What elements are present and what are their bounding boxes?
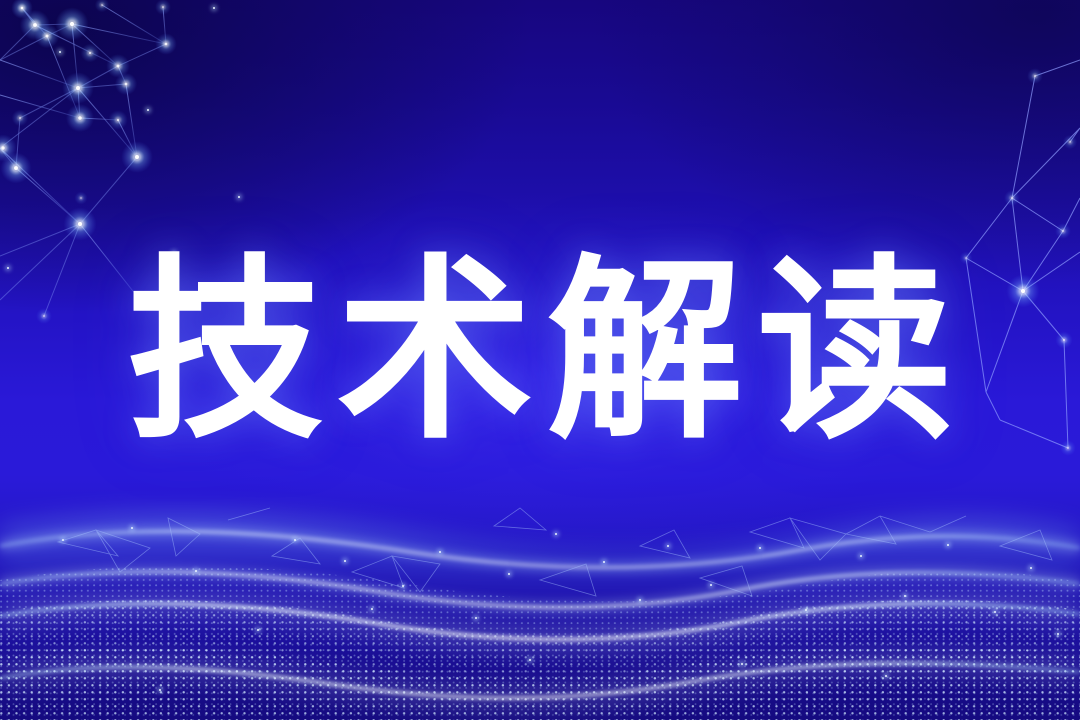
banner-title: 技术解读 — [113, 254, 967, 450]
title-container: 技术解读 — [0, 242, 1080, 462]
tech-banner: 技术解读 — [0, 0, 1080, 720]
